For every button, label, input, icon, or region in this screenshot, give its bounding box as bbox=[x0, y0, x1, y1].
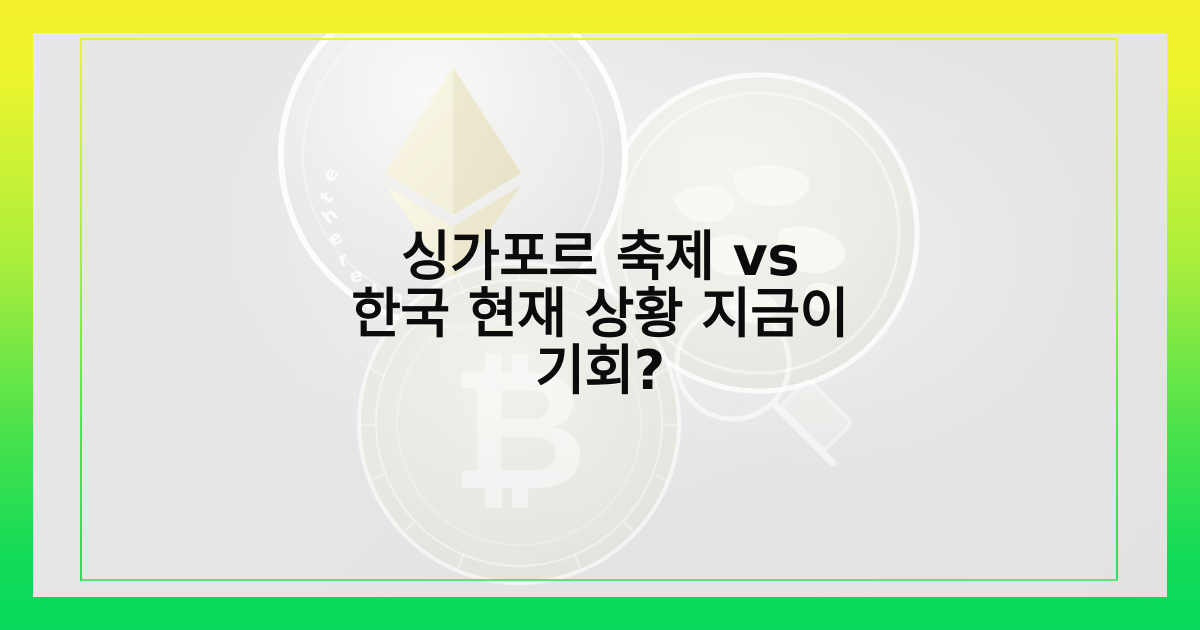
title-line-3: 기회? bbox=[535, 342, 664, 399]
title-block: 싱가포르 축제 vs 한국 현재 상황 지금이 기회? bbox=[33, 33, 1167, 597]
title-line-2: 한국 현재 상황 지금이 bbox=[351, 285, 849, 342]
thumbnail-canvas: e t h e r e u m bbox=[0, 0, 1200, 630]
title-line-1: 싱가포르 축제 vs bbox=[401, 228, 799, 285]
inner-plate: e t h e r e u m bbox=[33, 33, 1167, 597]
